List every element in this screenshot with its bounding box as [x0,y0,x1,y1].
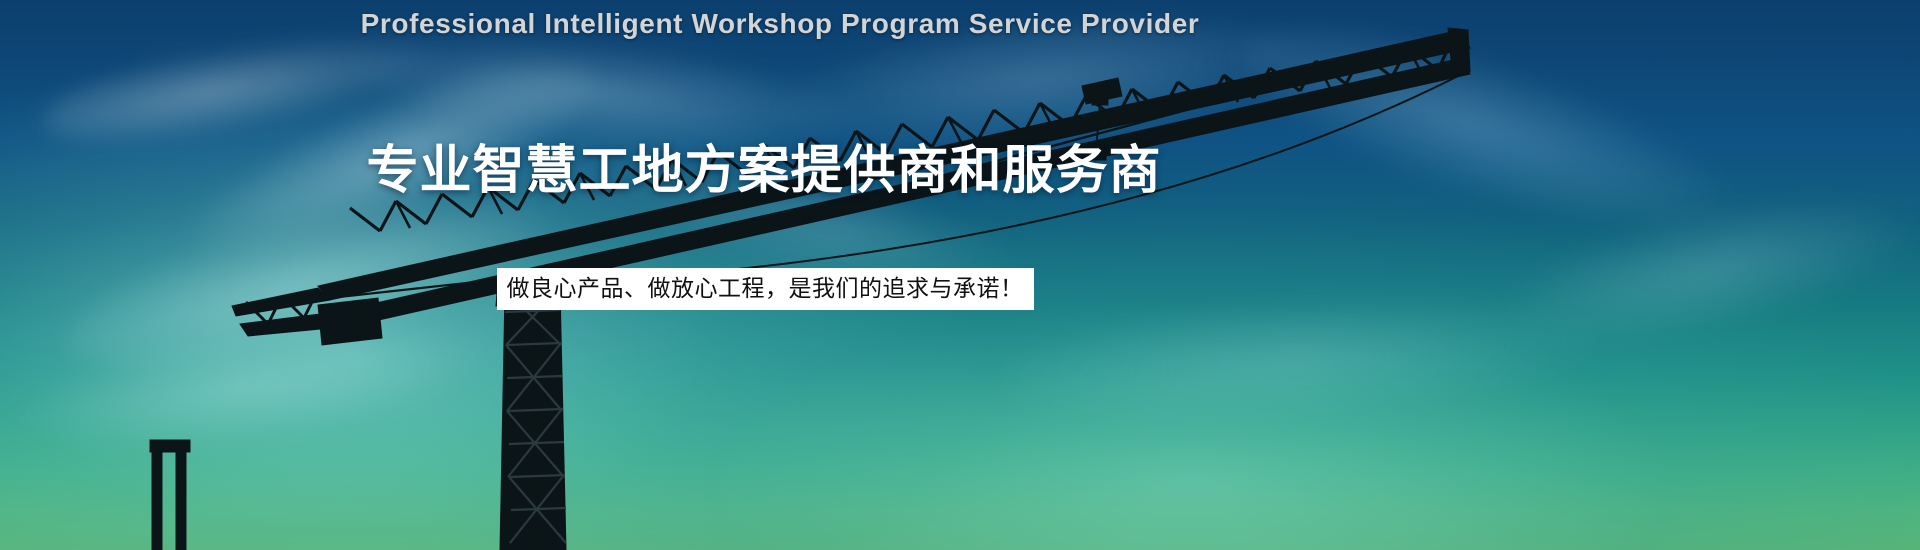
banner-text-layer: Professional Intelligent Workshop Progra… [0,0,1920,550]
hero-banner: Professional Intelligent Workshop Progra… [0,0,1920,550]
banner-headline: 专业智慧工地方案提供商和服务商 [0,128,1528,203]
banner-eyebrow-text: Professional Intelligent Workshop Progra… [0,8,1560,40]
banner-tagline: 做良心产品、做放心工程，是我们的追求与承诺！ [497,268,1034,310]
banner-tagline-container: 做良心产品、做放心工程，是我们的追求与承诺！ [0,268,1530,310]
